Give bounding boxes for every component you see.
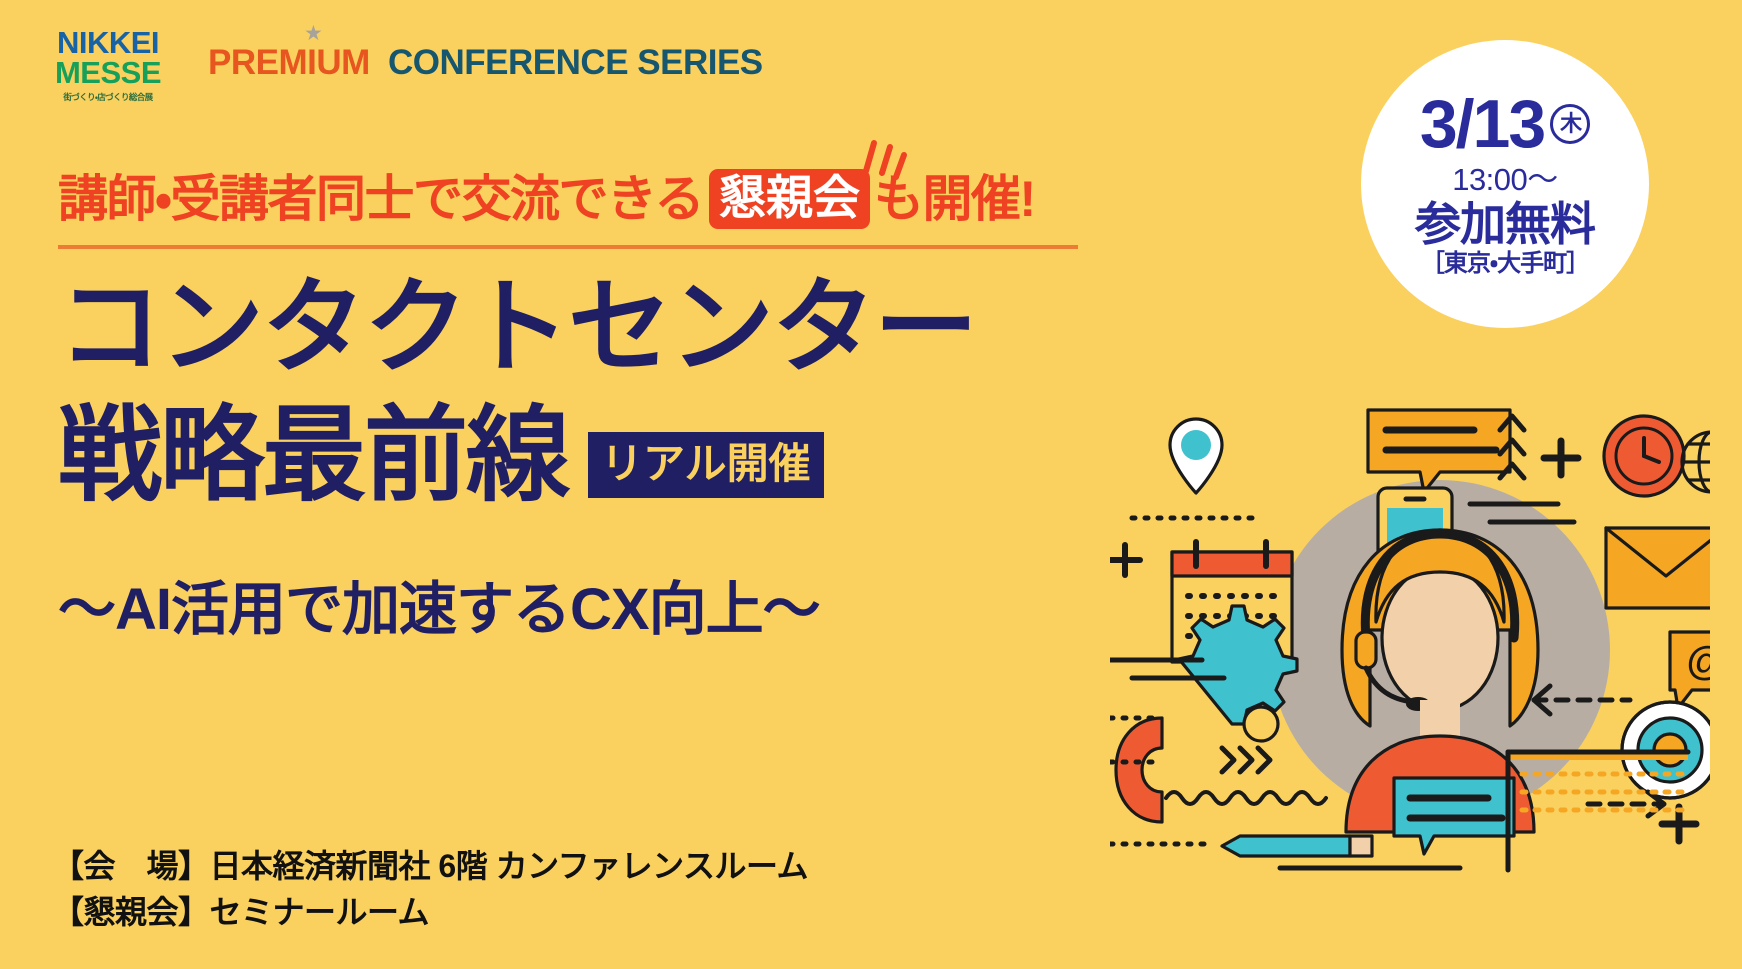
title-line-2: 戦略最前線 <box>58 400 568 512</box>
globe-icon <box>1682 432 1710 492</box>
sparkle-rays-icon <box>860 135 908 181</box>
logo-nikkei-text: NIKKEI <box>38 28 178 58</box>
headline-before-text: 講師・受講者同士で交流できる <box>58 174 703 224</box>
envelope-icon <box>1606 528 1710 608</box>
headline: 講師・受講者同士で交流できる 懇親会 も開催! <box>58 166 1035 232</box>
chevron-right-group-icon <box>1222 748 1270 772</box>
date-value: 3/13 <box>1420 90 1544 158</box>
plus-icon <box>1110 545 1140 575</box>
konshinkai-label: 懇親会 <box>719 171 860 224</box>
date-location: ［東京・大手町］ <box>1421 251 1589 277</box>
logo-tagline: 街づくり・店づくり総合展 <box>38 91 178 103</box>
real-event-badge: リアル開催 <box>588 432 824 498</box>
date-badge: 3/13 木 13:00〜 参加無料 ［東京・大手町］ <box>1361 40 1649 328</box>
venue-info: 【会 場】日本経済新聞社 6階 カンファレンスルーム 【懇親会】セミナールーム <box>52 843 808 936</box>
date-time: 13:00〜 <box>1452 162 1558 198</box>
at-sign-icon: @ <box>1670 632 1710 708</box>
location-pin-icon <box>1170 419 1222 493</box>
title-line-2-row: 戦略最前線 リアル開催 <box>58 400 824 512</box>
clock-icon <box>1604 416 1684 496</box>
squiggle-line <box>1166 792 1326 804</box>
gear-icon <box>1179 606 1297 741</box>
headline-after-text: も開催! <box>874 174 1035 224</box>
call-center-illustration: @ <box>1110 400 1710 880</box>
date-main-row: 3/13 木 <box>1420 90 1590 158</box>
svg-text:@: @ <box>1686 639 1710 683</box>
series-premium-text: PREMIUM <box>208 43 370 82</box>
plus-icon-2 <box>1544 441 1578 475</box>
event-banner: NIKKEI MESSE 街づくり・店づくり総合展 ★ PREMIUM CONF… <box>0 0 1742 969</box>
title-line-1: コンタクトセンター <box>58 272 976 384</box>
premium-conference-series: ★ PREMIUM CONFERENCE SERIES <box>208 43 763 83</box>
pencil-icon <box>1222 836 1372 856</box>
star-icon: ★ <box>304 23 322 44</box>
speech-bubble-orange-icon <box>1368 410 1510 492</box>
headline-underline <box>58 245 1078 249</box>
phone-handset-icon <box>1116 718 1162 822</box>
speech-bubble-cyan-icon <box>1394 778 1514 854</box>
venue-line-2: 【懇親会】セミナールーム <box>52 889 808 935</box>
date-day-of-week: 木 <box>1550 104 1590 144</box>
logo-messe-text: MESSE <box>38 58 178 88</box>
venue-line-1: 【会 場】日本経済新聞社 6階 カンファレンスルーム <box>52 843 808 889</box>
title-subtitle: 〜AI活用で加速するCX向上〜 <box>58 562 820 646</box>
series-rest-text: CONFERENCE SERIES <box>388 43 763 82</box>
nikkei-messe-logo: NIKKEI MESSE 街づくり・店づくり総合展 <box>38 28 178 103</box>
date-price: 参加無料 <box>1415 200 1595 248</box>
konshinkai-highlight-badge: 懇親会 <box>709 169 870 229</box>
